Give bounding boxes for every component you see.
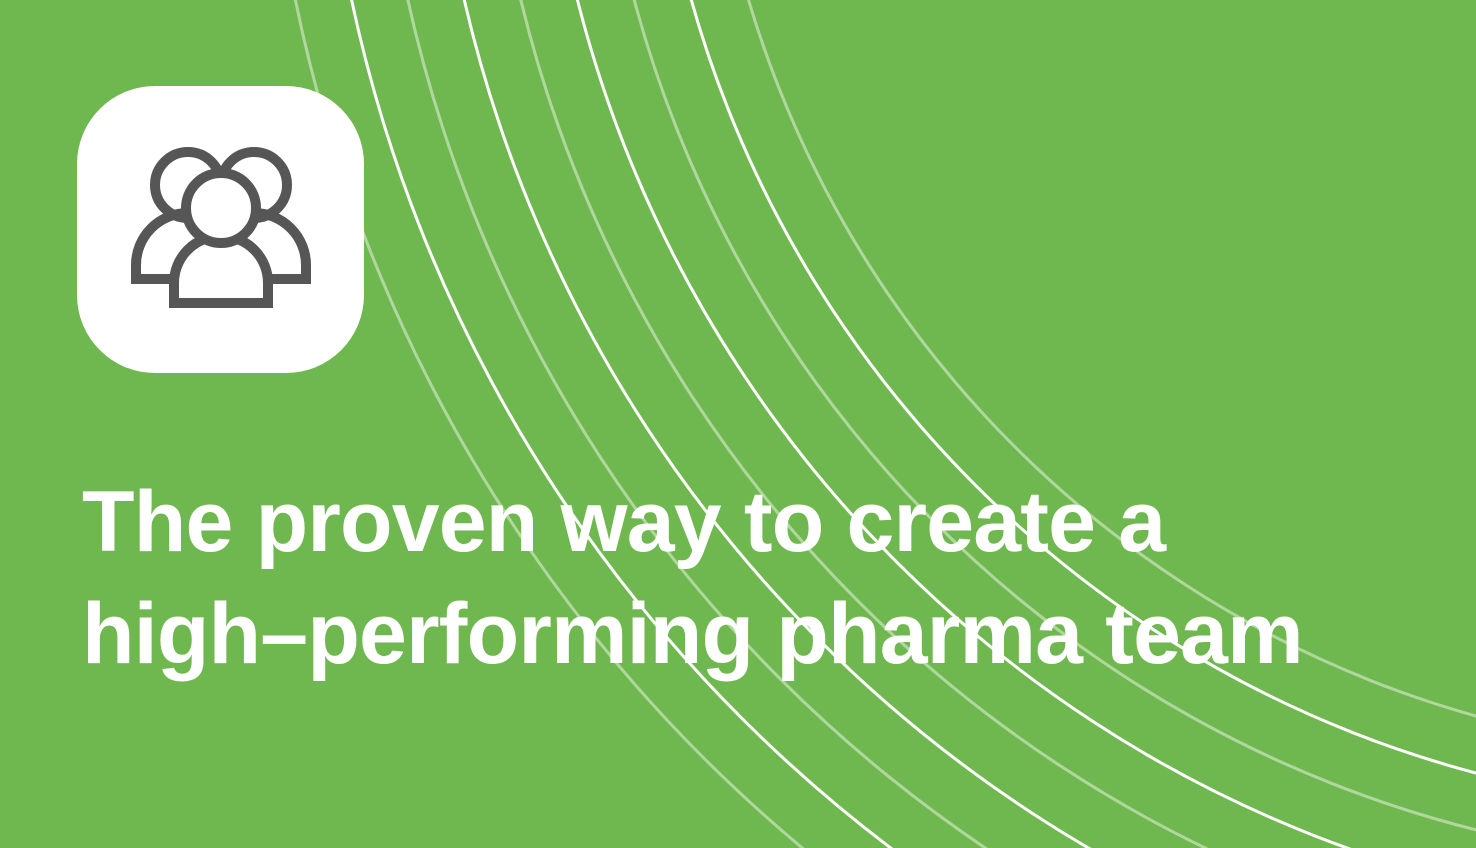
arc-ring-2 bbox=[320, 0, 1476, 848]
arc-ring-1 bbox=[265, 0, 1476, 848]
person-front-head bbox=[186, 173, 256, 243]
headline-line-2: high–performing pharma team bbox=[82, 578, 1382, 690]
icon-tile bbox=[77, 86, 364, 373]
arc-ring-3 bbox=[375, 0, 1476, 848]
people-group-icon bbox=[126, 147, 316, 313]
headline-line-1: The proven way to create a bbox=[82, 466, 1382, 578]
arc-ring-5 bbox=[485, 0, 1476, 848]
page-title: The proven way to create a high–performi… bbox=[82, 466, 1382, 690]
promo-banner: The proven way to create a high–performi… bbox=[0, 0, 1476, 848]
arc-ring-4 bbox=[430, 0, 1476, 848]
arc-ring-6 bbox=[540, 0, 1476, 848]
arc-ring-7 bbox=[595, 0, 1476, 848]
